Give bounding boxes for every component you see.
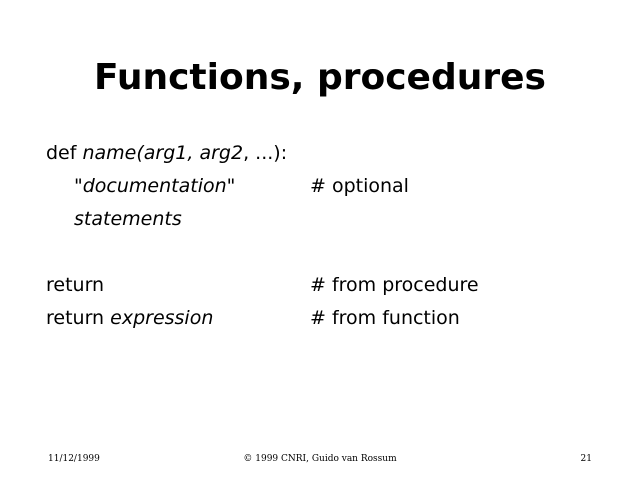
code-line-def: def name(arg1, arg2, ...): [46,137,606,170]
code-line-blank [46,236,606,269]
slide-footer: 11/12/1999 © 1999 CNRI, Guido van Rossum… [0,444,640,480]
docstring-quote-close: " [227,175,236,197]
footer-page-number: 21 [581,454,592,464]
code-line-return-expression: return expression # from function [46,302,606,335]
slide: Functions, procedures def name(arg1, arg… [0,0,640,480]
page-title: Functions, procedures [0,56,640,100]
comment-from-function: # from function [310,302,460,335]
comment-from-procedure: # from procedure [310,269,479,302]
return-expression: expression [110,307,213,329]
statements-text: statements [74,203,182,236]
comment-optional: # optional [310,170,409,203]
code-line-def-text: def name(arg1, arg2, ...): [46,137,287,170]
def-signature-tail: , ...): [243,142,287,164]
return-expression-text: return expression [46,302,213,335]
docstring-content: documentation [83,175,227,197]
code-block: def name(arg1, arg2, ...): "documentatio… [46,137,606,335]
return-keyword-2: return [46,307,110,329]
code-line-docstring: "documentation" # optional [46,170,606,203]
docstring-quote-open: " [74,175,83,197]
def-signature: name(arg1, arg2 [82,142,243,164]
docstring-text: "documentation" [74,170,235,203]
footer-copyright: © 1999 CNRI, Guido van Rossum [0,454,640,464]
return-keyword: return [46,269,104,302]
code-line-return-bare: return # from procedure [46,269,606,302]
def-keyword: def [46,142,82,164]
code-line-statements: statements [46,203,606,236]
